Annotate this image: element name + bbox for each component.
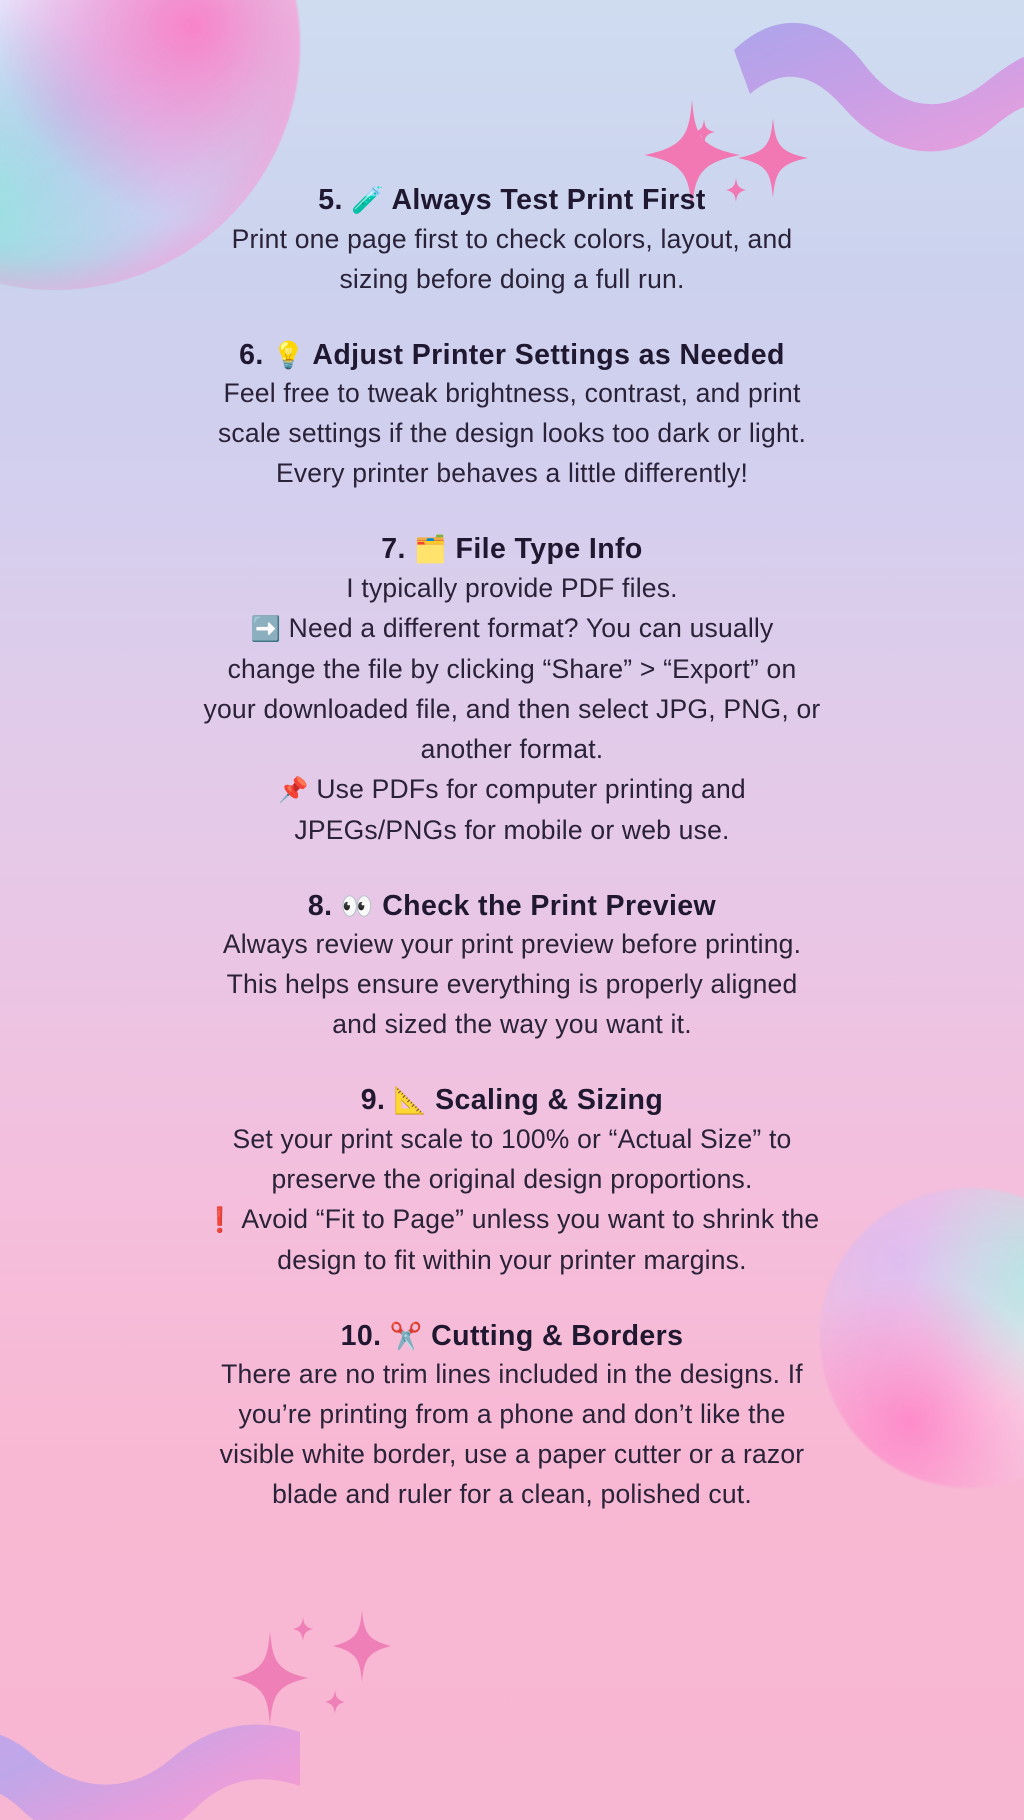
section-heading: 9. 📐 Scaling & Sizing <box>48 1082 976 1119</box>
triangular-ruler-emoji: 📐 <box>394 1086 427 1116</box>
light-bulb-emoji: 💡 <box>272 341 305 371</box>
section-heading: 7. 🗂️ File Type Info <box>48 531 976 568</box>
section-spacer <box>48 493 976 531</box>
tip-section: 9. 📐 Scaling & SizingSet your print scal… <box>48 1082 976 1280</box>
bullet-text: Need a different format? You can usually <box>289 613 774 643</box>
section-body-line: Every printer behaves a little different… <box>48 453 976 493</box>
section-bullet-line: change the file by clicking “Share” > “E… <box>48 649 976 689</box>
section-number: 10. <box>341 1320 382 1352</box>
section-bullet-line: ➡️ Need a different format? You can usua… <box>48 608 976 649</box>
section-body-line: blade and ruler for a clean, polished cu… <box>48 1474 976 1514</box>
section-body-line: you’re printing from a phone and don’t l… <box>48 1394 976 1434</box>
section-bullet-line: design to fit within your printer margin… <box>48 1240 976 1280</box>
sparkle-medium-bottom-left-icon <box>333 1610 391 1682</box>
section-title: Scaling & Sizing <box>435 1084 663 1116</box>
section-title: Adjust Printer Settings as Needed <box>312 339 784 371</box>
printing-tips-content: 5. 🧪 Always Test Print FirstPrint one pa… <box>0 0 1024 1514</box>
exclamation-mark-emoji: ❗ <box>205 1205 236 1234</box>
bullet-text: Use PDFs for computer printing and <box>316 774 746 804</box>
section-title: Check the Print Preview <box>382 890 716 922</box>
section-body-line: This helps ensure everything is properly… <box>48 964 976 1004</box>
section-spacer <box>48 1280 976 1318</box>
eyes-emoji: 👀 <box>341 892 374 922</box>
section-bullet-line: JPEGs/PNGs for mobile or web use. <box>48 810 976 850</box>
section-body-line: sizing before doing a full run. <box>48 259 976 299</box>
bullet-text: Avoid “Fit to Page” unless you want to s… <box>241 1204 819 1234</box>
section-body-line: I typically provide PDF files. <box>48 568 976 608</box>
section-title: Cutting & Borders <box>431 1320 683 1352</box>
section-heading: 5. 🧪 Always Test Print First <box>48 182 976 219</box>
section-body-line: and sized the way you want it. <box>48 1004 976 1044</box>
section-spacer <box>48 299 976 337</box>
section-spacer <box>48 850 976 888</box>
tip-section: 10. ✂️ Cutting & BordersThere are no tri… <box>48 1318 976 1515</box>
tip-section: 7. 🗂️ File Type InfoI typically provide … <box>48 531 976 850</box>
scissors-emoji: ✂️ <box>390 1322 423 1352</box>
section-number: 8. <box>308 890 333 922</box>
pushpin-emoji: 📌 <box>278 775 309 804</box>
sparkle-tiny-c-icon <box>293 1617 313 1641</box>
section-title: File Type Info <box>456 533 643 565</box>
section-body-line: Print one page first to check colors, la… <box>48 219 976 259</box>
sparkle-tiny-d-icon <box>325 1690 345 1714</box>
section-bullet-line: another format. <box>48 729 976 769</box>
section-number: 5. <box>318 184 343 216</box>
section-body-line: Set your print scale to 100% or “Actual … <box>48 1119 976 1159</box>
sections-list: 5. 🧪 Always Test Print FirstPrint one pa… <box>48 182 976 1514</box>
section-body-line: scale settings if the design looks too d… <box>48 413 976 453</box>
card-index-dividers-emoji: 🗂️ <box>414 535 447 565</box>
section-body-line: There are no trim lines included in the … <box>48 1354 976 1394</box>
section-bullet-line: 📌 Use PDFs for computer printing and <box>48 769 976 810</box>
section-body-line: visible white border, use a paper cutter… <box>48 1434 976 1474</box>
tip-section: 8. 👀 Check the Print PreviewAlways revie… <box>48 888 976 1045</box>
ribbon-bottom-left-icon <box>0 1670 300 1820</box>
section-body-line: preserve the original design proportions… <box>48 1159 976 1199</box>
section-bullet-line: ❗ Avoid “Fit to Page” unless you want to… <box>48 1199 976 1240</box>
section-heading: 6. 💡 Adjust Printer Settings as Needed <box>48 337 976 374</box>
section-title: Always Test Print First <box>391 184 705 216</box>
tip-section: 5. 🧪 Always Test Print FirstPrint one pa… <box>48 182 976 299</box>
section-heading: 10. ✂️ Cutting & Borders <box>48 1318 976 1355</box>
test-tube-emoji: 🧪 <box>351 186 384 216</box>
sparkle-large-bottom-left-icon <box>232 1631 308 1725</box>
section-number: 7. <box>381 533 406 565</box>
section-body-line: Always review your print preview before … <box>48 924 976 964</box>
tip-section: 6. 💡 Adjust Printer Settings as NeededFe… <box>48 337 976 494</box>
section-body-line: Feel free to tweak brightness, contrast,… <box>48 373 976 413</box>
section-heading: 8. 👀 Check the Print Preview <box>48 888 976 925</box>
section-bullet-line: your downloaded file, and then select JP… <box>48 689 976 729</box>
section-spacer <box>48 1044 976 1082</box>
section-number: 6. <box>239 339 264 371</box>
right-arrow-emoji: ➡️ <box>251 614 282 643</box>
section-number: 9. <box>361 1084 386 1116</box>
